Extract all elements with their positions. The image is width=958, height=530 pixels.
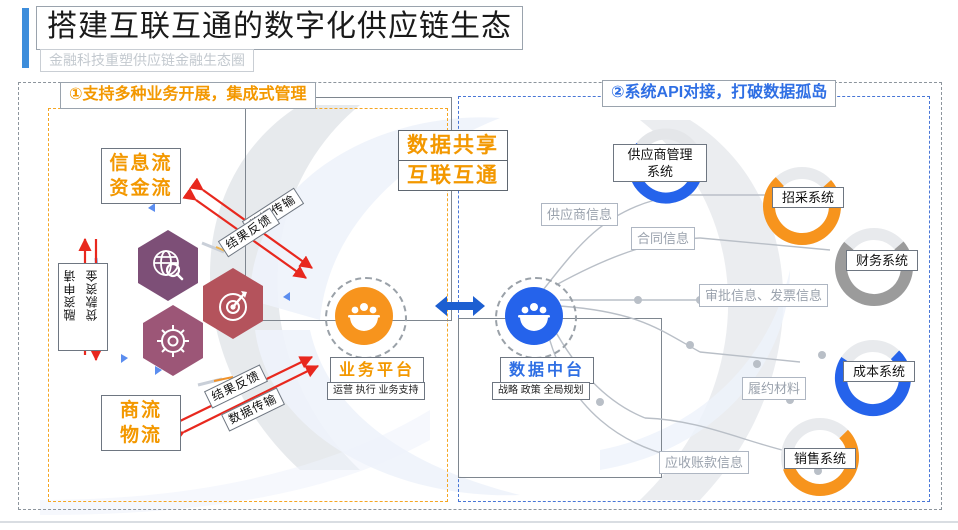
- system-label-cost: 成本系统: [843, 361, 915, 382]
- center-statement-line-2: 互联互通: [399, 160, 507, 190]
- system-label-sales: 销售系统: [784, 448, 856, 469]
- data-midend-subtitle: 战略 政策 全局规划: [492, 382, 590, 400]
- trade-flow-line-2: 物流: [108, 423, 174, 448]
- trade-flow-line-1: 商流: [108, 398, 174, 423]
- supplier-management-line-2: 系统: [618, 163, 702, 180]
- label-trade-logistics-flow: 商流 物流: [101, 395, 181, 451]
- chip-receivables-info: 应收账款信息: [659, 451, 749, 474]
- node-data-midend[interactable]: [495, 277, 577, 359]
- chip-approval-invoice-info: 审批信息、发票信息: [699, 284, 828, 307]
- center-statement: 数据共享 互联互通: [398, 130, 508, 191]
- business-platform-subtitle: 运营 执行 业务支持: [327, 382, 425, 400]
- group-people-icon: [347, 301, 381, 331]
- info-flow-line-2: 资金流: [108, 176, 174, 201]
- node-business-platform[interactable]: [325, 277, 407, 359]
- finance-vertical-label-box: 融资申请 贷款资金: [58, 263, 108, 351]
- bidirectional-exchange-arrow-icon: [435, 293, 485, 319]
- business-platform-title: 业务平台: [330, 357, 424, 384]
- info-flow-line-1: 信息流: [108, 151, 174, 176]
- label-financing-application: 融资申请: [64, 269, 77, 321]
- chip-performance-materials: 履约材料: [742, 377, 806, 400]
- system-label-finance: 财务系统: [846, 250, 918, 271]
- label-loan-funds: 贷款资金: [86, 269, 99, 321]
- system-label-supplier-management: 供应商管理 系统: [613, 144, 707, 182]
- center-statement-line-1: 数据共享: [399, 131, 507, 160]
- group-people-icon: [517, 301, 551, 331]
- chip-supplier-info: 供应商信息: [541, 203, 618, 226]
- slide-canvas: 搭建互联互通的数字化供应链生态 金融科技重塑供应链金融生态圈 ①支持多种业务开展…: [0, 0, 958, 530]
- data-midend-disc: [505, 287, 563, 345]
- supplier-management-line-1: 供应商管理: [618, 146, 702, 163]
- data-midend-title: 数据中台: [500, 357, 594, 384]
- system-label-bidding-procurement: 招采系统: [772, 187, 844, 208]
- chip-contract-info: 合同信息: [631, 227, 695, 250]
- label-info-capital-flow: 信息流 资金流: [101, 148, 181, 204]
- bottom-rule: [0, 521, 958, 523]
- business-platform-disc: [335, 287, 393, 345]
